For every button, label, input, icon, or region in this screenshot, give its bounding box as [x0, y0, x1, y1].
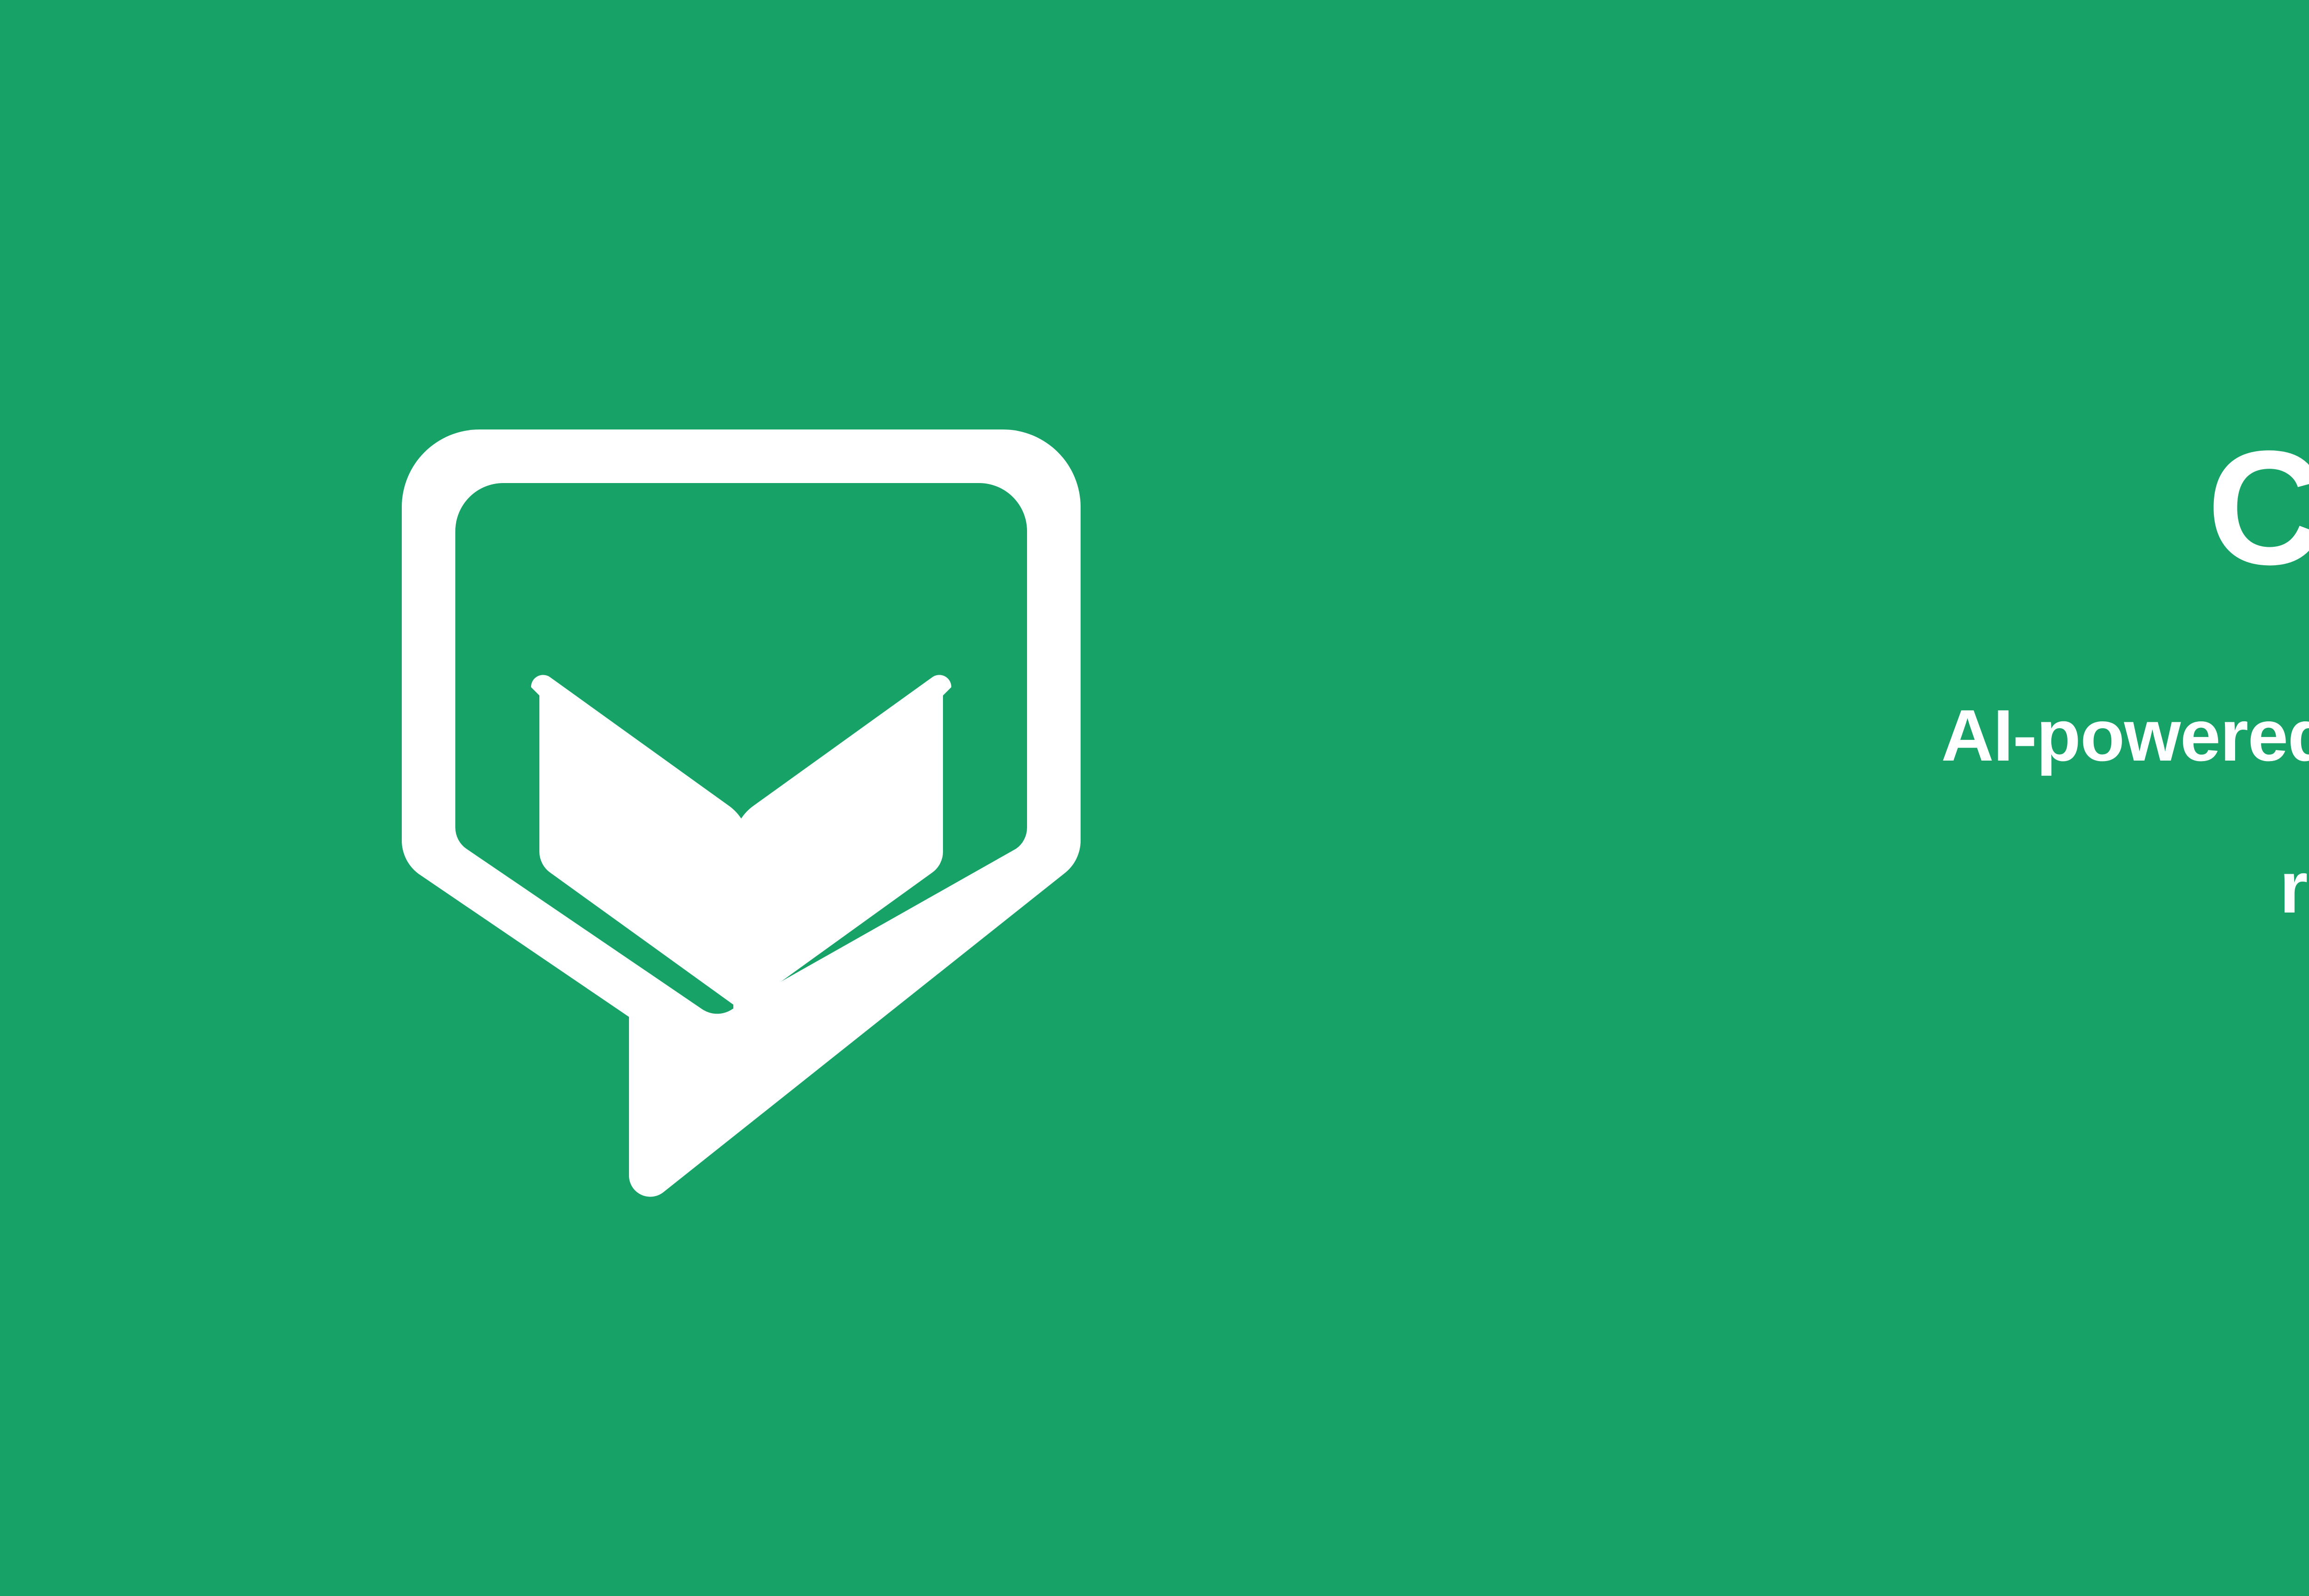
- brand-title: Contextify: [1339, 425, 2309, 591]
- brand-tagline-line-2: right where you read: [1339, 812, 2309, 964]
- speech-bubble-open-book-logo-icon: [379, 406, 1127, 1238]
- brand-text-block: Contextify AI-powered language learning,…: [1339, 425, 2309, 963]
- speech-bubble-outline-shape: [402, 429, 1081, 1197]
- brand-tagline: AI-powered language learning, right wher…: [1339, 591, 2309, 963]
- brand-tagline-line-1: AI-powered language learning,: [1339, 660, 2309, 812]
- contextify-logo: [379, 406, 1127, 1238]
- brand-banner: Contextify AI-powered language learning,…: [0, 0, 2309, 1596]
